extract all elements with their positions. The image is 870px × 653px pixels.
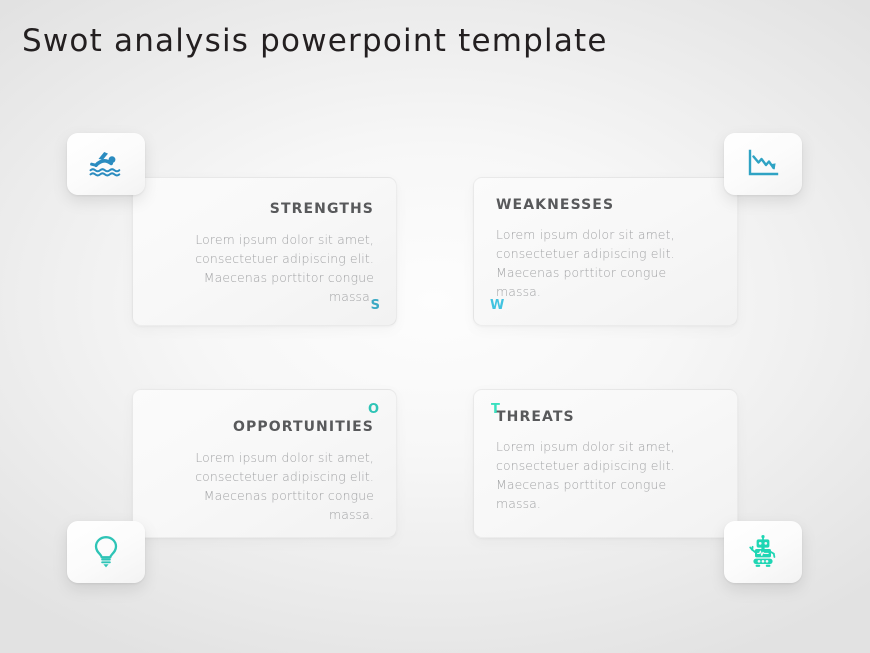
icon-tile-strengths[interactable] [67, 133, 145, 195]
quadrant-heading-weaknesses: WEAKNESSES [496, 198, 715, 213]
quadrant-heading-strengths: STRENGTHS [155, 202, 374, 217]
swimmer-icon [88, 149, 124, 179]
icon-tile-weaknesses[interactable] [724, 133, 802, 195]
quadrant-content-threats: T THREATS Lorem ipsum dolor sit amet, co… [474, 390, 737, 537]
quadrant-content-strengths: STRENGTHS Lorem ipsum dolor sit amet, co… [133, 178, 396, 325]
quadrant-letter-opportunities: O [368, 403, 379, 416]
icon-tile-opportunities[interactable] [67, 521, 145, 583]
quadrant-body-strengths: Lorem ipsum dolor sit amet, consectetuer… [155, 231, 374, 306]
quadrant-letter-strengths: S [371, 299, 380, 312]
quadrant-content-weaknesses: WEAKNESSES Lorem ipsum dolor sit amet, c… [474, 178, 737, 325]
quadrant-letter-weaknesses: W [490, 299, 504, 312]
icon-tile-threats[interactable] [724, 521, 802, 583]
quadrant-body-threats: Lorem ipsum dolor sit amet, consectetuer… [496, 438, 715, 513]
quadrant-heading-opportunities: OPPORTUNITIES [155, 420, 374, 435]
robot-icon [746, 535, 780, 569]
quadrant-letter-threats: T [491, 403, 500, 416]
slide-canvas: Swot analysis powerpoint template STRENG… [0, 0, 870, 653]
lightbulb-icon [92, 535, 120, 569]
page-title: Swot analysis powerpoint template [22, 23, 608, 59]
quadrant-card-weaknesses[interactable]: WEAKNESSES Lorem ipsum dolor sit amet, c… [473, 177, 738, 326]
quadrant-card-threats[interactable]: T THREATS Lorem ipsum dolor sit amet, co… [473, 389, 738, 538]
quadrant-card-opportunities[interactable]: O OPPORTUNITIES Lorem ipsum dolor sit am… [132, 389, 397, 538]
quadrant-body-opportunities: Lorem ipsum dolor sit amet, consectetuer… [155, 449, 374, 524]
quadrant-heading-threats: THREATS [496, 410, 715, 425]
quadrant-body-weaknesses: Lorem ipsum dolor sit amet, consectetuer… [496, 226, 715, 301]
quadrant-content-opportunities: O OPPORTUNITIES Lorem ipsum dolor sit am… [133, 390, 396, 537]
quadrant-card-strengths[interactable]: STRENGTHS Lorem ipsum dolor sit amet, co… [132, 177, 397, 326]
declining-chart-icon [746, 149, 780, 179]
